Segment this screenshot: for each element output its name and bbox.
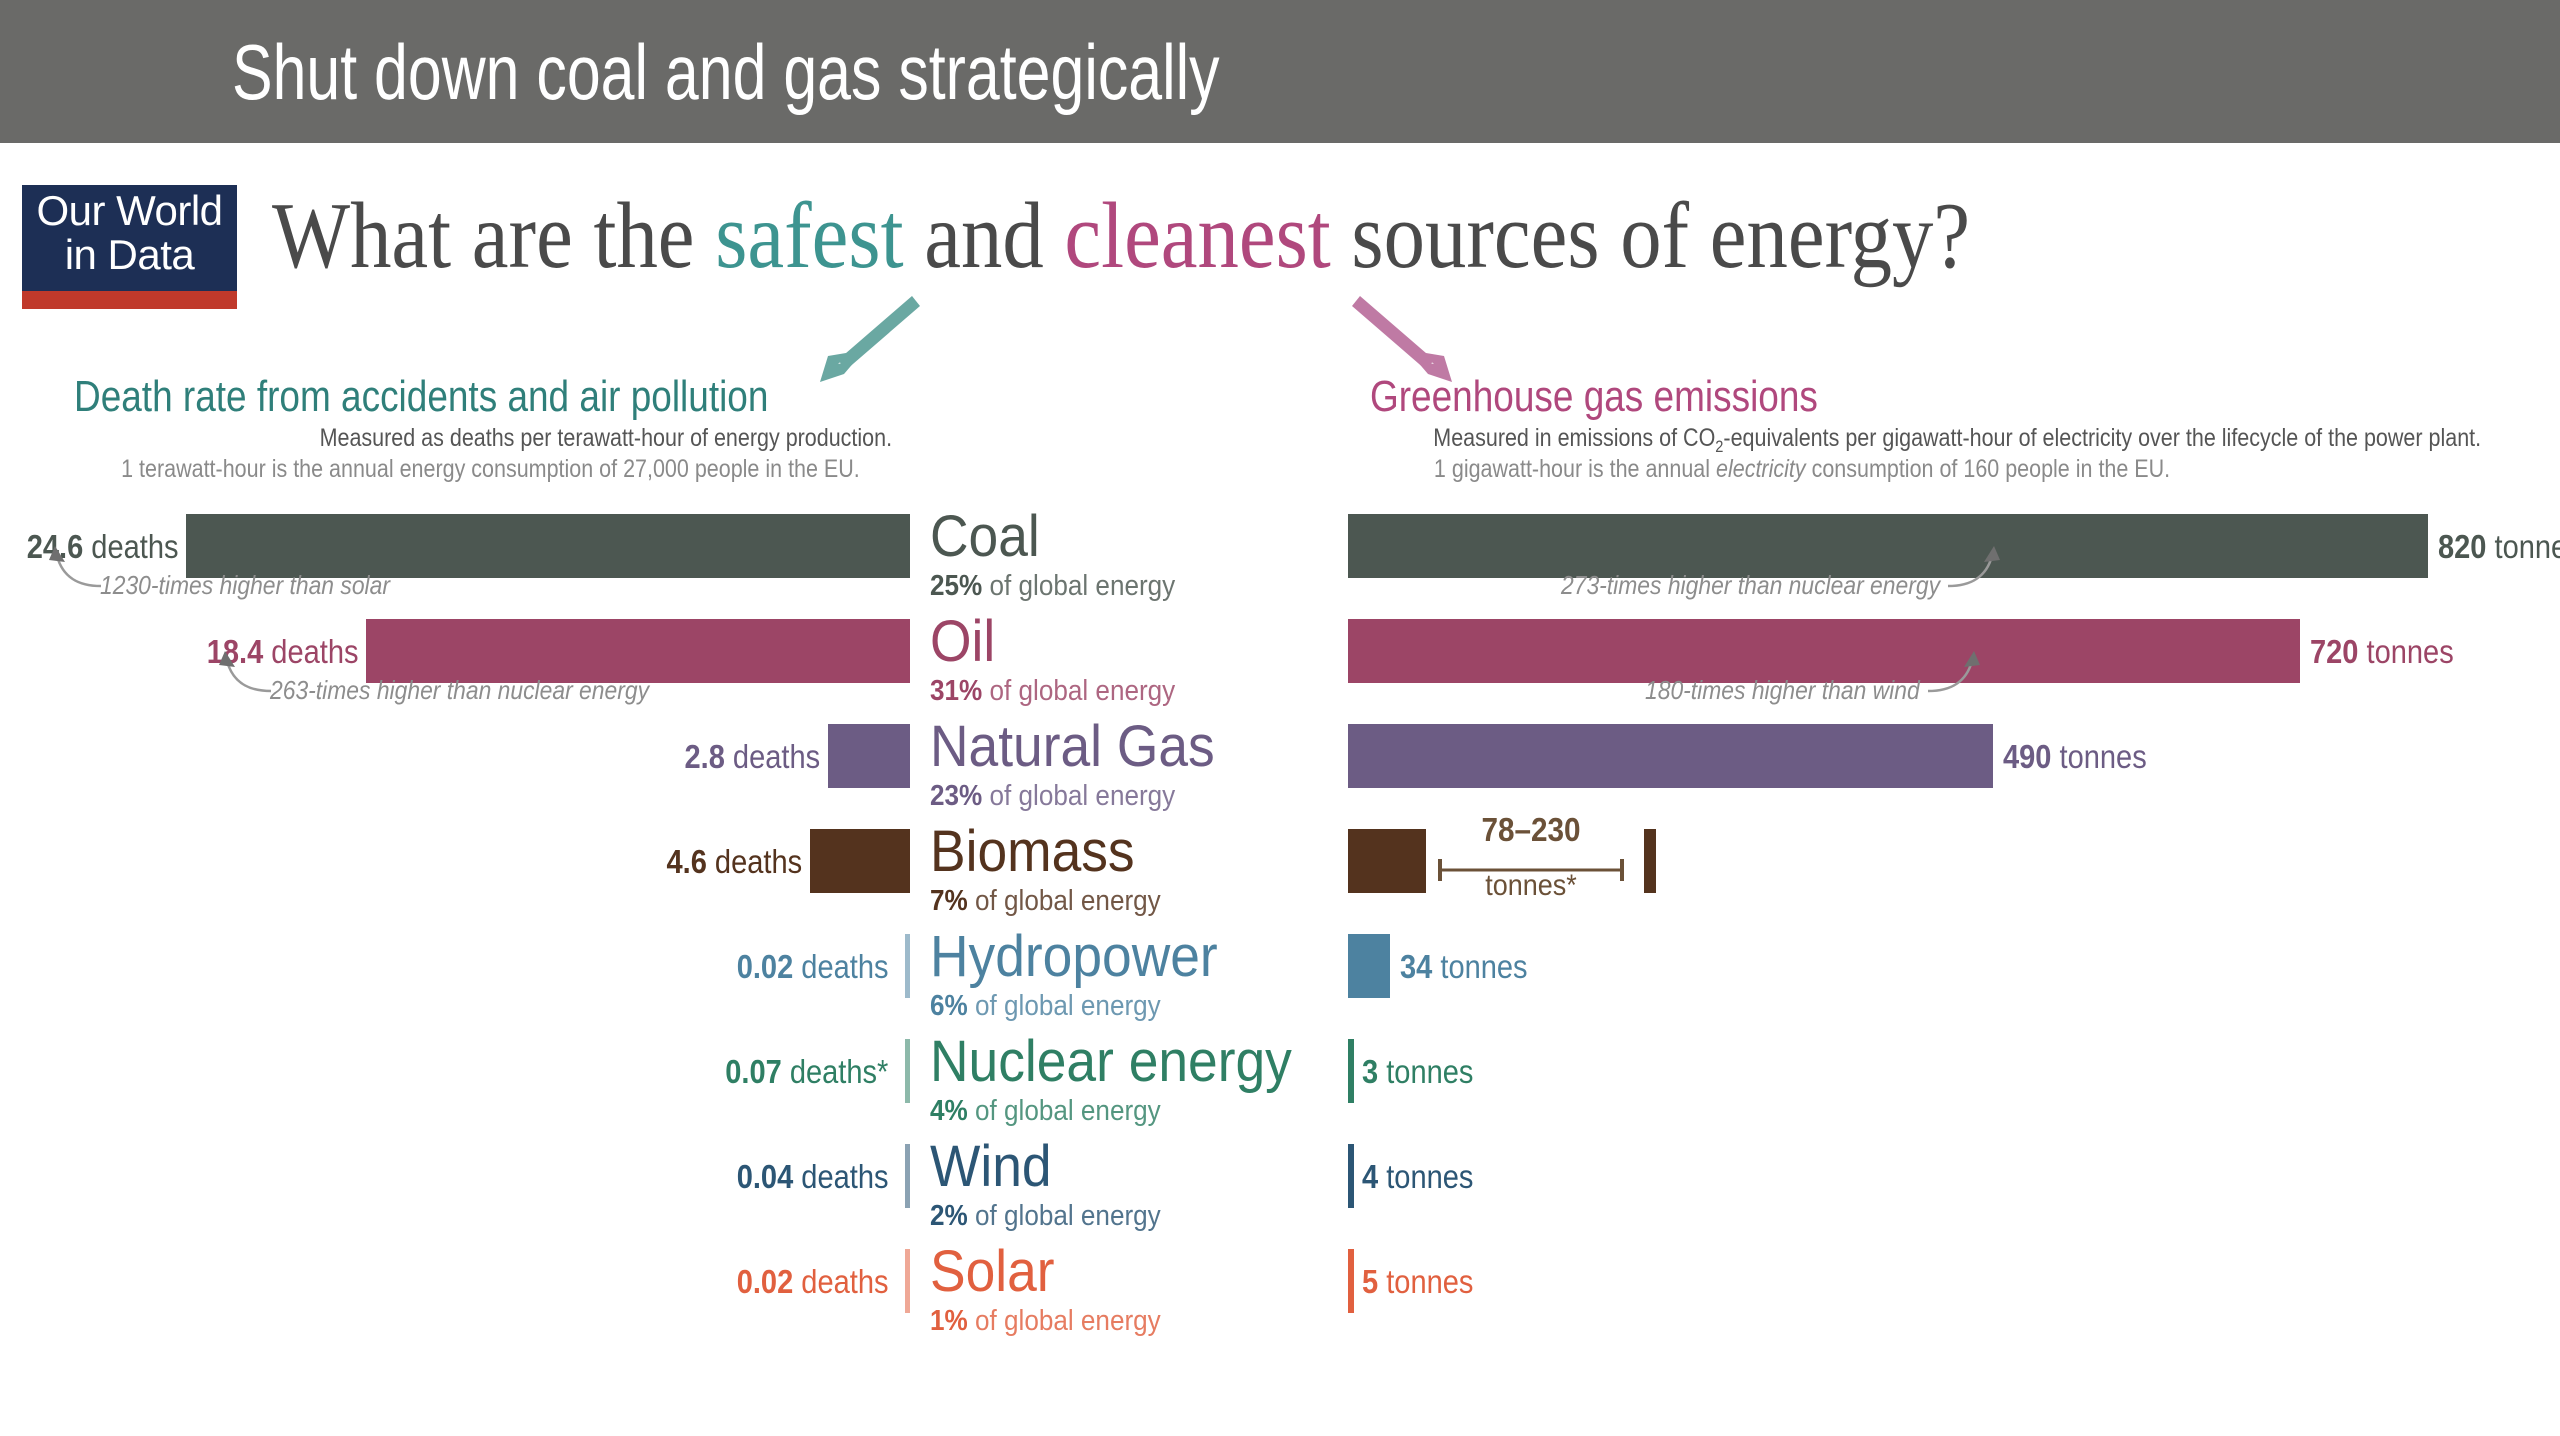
source-label-block-coal: Coal25% of global energy <box>930 508 1202 601</box>
source-share-caption-wind: of global energy <box>968 1200 1161 1232</box>
slide-canvas: Shut down coal and gas strategically Our… <box>0 0 2560 1436</box>
source-share-percent-natural-gas: 23% <box>930 780 982 812</box>
death-rate-tick-wind <box>905 1144 910 1208</box>
source-share-caption-nuclear-energy: of global energy <box>968 1095 1161 1127</box>
source-name-coal: Coal <box>930 508 1181 566</box>
emissions-range-biomass: 78–230tonnes* <box>1436 811 1626 911</box>
source-share-caption-natural-gas: of global energy <box>982 780 1175 812</box>
death-rate-value-nuclear-energy: 0.07 <box>725 1053 782 1090</box>
source-share-percent-hydropower: 6% <box>930 990 968 1022</box>
emissions-range-value-biomass: 78–230 <box>1446 811 1617 849</box>
source-name-natural-gas: Natural Gas <box>930 718 1215 776</box>
death-rate-tick-nuclear-energy <box>905 1039 910 1103</box>
emissions-unit-natural-gas: tonnes <box>2051 738 2146 775</box>
emissions-range-unit-biomass: tonnes* <box>1446 869 1617 903</box>
coal-emissions-annotation-arrow-icon <box>1946 542 2006 594</box>
death-rate-unit-oil: deaths <box>263 633 358 670</box>
emissions-label-wind: 4 tonnes <box>1362 1158 1473 1196</box>
source-share-solar: 1% of global energy <box>930 1307 1161 1336</box>
source-share-percent-coal: 25% <box>930 570 982 602</box>
coal-death-annotation: 1230-times higher than solar <box>100 570 390 601</box>
source-label-block-wind: Wind2% of global energy <box>930 1138 1186 1231</box>
source-share-percent-biomass: 7% <box>930 885 968 917</box>
source-name-wind: Wind <box>930 1138 1166 1196</box>
source-label-block-solar: Solar1% of global energy <box>930 1243 1186 1336</box>
source-row-wind[interactable]: 0.04 deathsWind2% of global energy4 tonn… <box>0 1144 2560 1208</box>
source-row-nuclear-energy[interactable]: 0.07 deaths*Nuclear energy4% of global e… <box>0 1039 2560 1103</box>
emissions-upper-bound-marker-biomass <box>1644 829 1656 893</box>
source-share-biomass: 7% of global energy <box>930 887 1161 916</box>
emissions-unit-nuclear-energy: tonnes <box>1378 1053 1473 1090</box>
death-rate-label-wind: 0.04 deaths <box>736 1158 888 1196</box>
source-label-block-biomass: Biomass7% of global energy <box>930 823 1186 916</box>
death-rate-bar-biomass <box>810 829 910 893</box>
source-row-solar[interactable]: 0.02 deathsSolar1% of global energy5 ton… <box>0 1249 2560 1313</box>
death-rate-bar-oil <box>366 619 910 683</box>
emissions-unit-solar: tonnes <box>1378 1263 1473 1300</box>
emissions-label-oil: 720 tonnes <box>2310 633 2454 671</box>
source-share-caption-coal: of global energy <box>982 570 1175 602</box>
source-name-oil: Oil <box>930 613 1181 671</box>
death-rate-unit-solar: deaths <box>793 1263 888 1300</box>
death-rate-tick-solar <box>905 1249 910 1313</box>
death-rate-unit-wind: deaths <box>793 1158 888 1195</box>
source-share-oil: 31% of global energy <box>930 677 1175 706</box>
source-share-caption-hydropower: of global energy <box>968 990 1161 1022</box>
emissions-bar-hydropower <box>1348 934 1390 998</box>
source-label-block-hydropower: Hydropower6% of global energy <box>930 928 1243 1021</box>
emissions-label-solar: 5 tonnes <box>1362 1263 1473 1301</box>
source-share-caption-biomass: of global energy <box>968 885 1161 917</box>
emissions-value-wind: 4 <box>1362 1158 1378 1195</box>
oil-emissions-annotation: 180-times higher than wind <box>1645 675 1920 706</box>
source-row-biomass[interactable]: 4.6 deathsBiomass7% of global energy78–2… <box>0 829 2560 893</box>
source-row-coal[interactable]: 24.6 deathsCoal25% of global energy820 t… <box>0 514 2560 578</box>
death-rate-tick-hydropower <box>905 934 910 998</box>
source-row-natural-gas[interactable]: 2.8 deathsNatural Gas23% of global energ… <box>0 724 2560 788</box>
energy-source-rows: 24.6 deathsCoal25% of global energy820 t… <box>0 0 2560 1436</box>
death-rate-label-nuclear-energy: 0.07 deaths* <box>725 1053 888 1091</box>
source-share-percent-nuclear-energy: 4% <box>930 1095 968 1127</box>
emissions-bar-natural-gas <box>1348 724 1993 788</box>
death-rate-value-solar: 0.02 <box>736 1263 793 1300</box>
death-rate-bar-coal <box>186 514 910 578</box>
emissions-tick-nuclear-energy <box>1348 1039 1354 1103</box>
death-rate-value-hydropower: 0.02 <box>736 948 793 985</box>
emissions-value-coal: 820 <box>2438 528 2486 565</box>
death-rate-unit-hydropower: deaths <box>793 948 888 985</box>
death-rate-label-solar: 0.02 deaths <box>736 1263 888 1301</box>
emissions-value-natural-gas: 490 <box>2003 738 2051 775</box>
source-label-block-nuclear-energy: Nuclear energy4% of global energy <box>930 1033 1323 1126</box>
death-rate-unit-biomass: deaths <box>707 843 802 880</box>
death-rate-bar-natural-gas <box>828 724 910 788</box>
emissions-tick-solar <box>1348 1249 1354 1313</box>
source-share-caption-oil: of global energy <box>982 675 1175 707</box>
source-name-hydropower: Hydropower <box>930 928 1218 986</box>
emissions-bar-coal <box>1348 514 2428 578</box>
coal-emissions-annotation: 273-times higher than nuclear energy <box>1561 570 1940 601</box>
death-rate-label-biomass: 4.6 deaths <box>666 843 802 881</box>
emissions-value-hydropower: 34 <box>1400 948 1432 985</box>
source-row-oil[interactable]: 18.4 deathsOil31% of global energy720 to… <box>0 619 2560 683</box>
death-rate-value-wind: 0.04 <box>736 1158 793 1195</box>
death-rate-label-hydropower: 0.02 deaths <box>736 948 888 986</box>
oil-death-annotation-arrow-icon <box>215 647 275 699</box>
death-rate-value-natural-gas: 2.8 <box>684 738 724 775</box>
source-name-biomass: Biomass <box>930 823 1166 881</box>
source-share-percent-wind: 2% <box>930 1200 968 1232</box>
emissions-label-nuclear-energy: 3 tonnes <box>1362 1053 1473 1091</box>
source-share-nuclear-energy: 4% of global energy <box>930 1097 1284 1126</box>
emissions-value-nuclear-energy: 3 <box>1362 1053 1378 1090</box>
source-share-percent-solar: 1% <box>930 1305 968 1337</box>
emissions-label-coal: 820 tonnes <box>2438 528 2560 566</box>
emissions-value-oil: 720 <box>2310 633 2358 670</box>
emissions-label-hydropower: 34 tonnes <box>1400 948 1528 986</box>
emissions-unit-hydropower: tonnes <box>1432 948 1527 985</box>
source-share-natural-gas: 23% of global energy <box>930 782 1209 811</box>
emissions-bar-biomass <box>1348 829 1426 893</box>
source-share-percent-oil: 31% <box>930 675 982 707</box>
source-name-nuclear-energy: Nuclear energy <box>930 1033 1292 1091</box>
emissions-unit-wind: tonnes <box>1378 1158 1473 1195</box>
coal-death-annotation-arrow-icon <box>45 542 105 594</box>
emissions-unit-coal: tonnes <box>2486 528 2560 565</box>
oil-emissions-annotation-arrow-icon <box>1926 647 1986 699</box>
source-share-coal: 25% of global energy <box>930 572 1175 601</box>
emissions-bar-oil <box>1348 619 2300 683</box>
death-rate-value-biomass: 4.6 <box>666 843 706 880</box>
death-rate-unit-nuclear-energy: deaths* <box>781 1053 888 1090</box>
source-name-solar: Solar <box>930 1243 1166 1301</box>
emissions-value-solar: 5 <box>1362 1263 1378 1300</box>
death-rate-label-natural-gas: 2.8 deaths <box>684 738 820 776</box>
death-rate-unit-natural-gas: deaths <box>725 738 820 775</box>
source-label-block-oil: Oil31% of global energy <box>930 613 1202 706</box>
emissions-tick-wind <box>1348 1144 1354 1208</box>
source-label-block-natural-gas: Natural Gas23% of global energy <box>930 718 1239 811</box>
source-row-hydropower[interactable]: 0.02 deathsHydropower6% of global energy… <box>0 934 2560 998</box>
source-share-wind: 2% of global energy <box>930 1202 1161 1231</box>
emissions-unit-oil: tonnes <box>2358 633 2453 670</box>
oil-death-annotation: 263-times higher than nuclear energy <box>270 675 649 706</box>
emissions-label-natural-gas: 490 tonnes <box>2003 738 2147 776</box>
source-share-hydropower: 6% of global energy <box>930 992 1211 1021</box>
source-share-caption-solar: of global energy <box>968 1305 1161 1337</box>
